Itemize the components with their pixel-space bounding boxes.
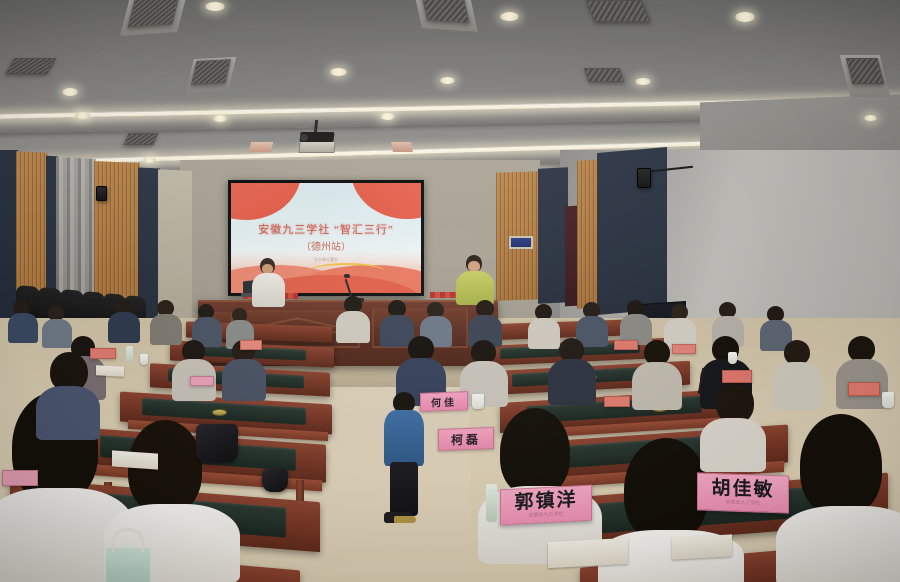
placard-front-right-name: 胡佳敏 (711, 479, 774, 500)
projector-mount-plate (298, 141, 335, 153)
paper-cup-3 (882, 392, 894, 408)
head (624, 438, 708, 542)
bench-badge-4-left (212, 409, 227, 416)
ceiling-grille-right (391, 142, 413, 152)
torso (336, 311, 370, 343)
water-bottle-1 (126, 346, 133, 363)
placard-far-4 (672, 344, 696, 354)
ac-vent-2 (191, 59, 231, 85)
downlight-11 (500, 12, 519, 21)
torso (222, 359, 266, 401)
tote-handle (112, 528, 144, 552)
notebook-3 (672, 534, 732, 559)
projection-subtitle: （德州站） (231, 238, 421, 253)
ac-vent-1 (127, 0, 180, 27)
downlight-1 (62, 88, 78, 96)
right-navy-panel-1 (538, 167, 568, 304)
ac-vent-6 (420, 0, 469, 23)
audience-right-mid-1 (548, 338, 596, 404)
audience-center-far-1 (336, 296, 370, 342)
paper-cup-1 (472, 394, 484, 409)
projection-title: 安徽九三学社 “智汇三行” (231, 221, 421, 237)
left-wall-front-panel (158, 169, 192, 320)
legs (390, 462, 418, 516)
torso (108, 312, 140, 343)
notebook-4 (96, 365, 124, 376)
torso (36, 386, 100, 440)
placard-mid-2: 柯磊 (438, 427, 494, 451)
placard-far-5 (722, 370, 752, 383)
screen-decor-blob-right (351, 183, 421, 219)
downlight-14 (864, 115, 877, 121)
placard-front-right: 胡佳敏 安徽省九三学社 (697, 472, 789, 513)
tote-bag (106, 548, 150, 582)
torso (700, 418, 766, 472)
right-navy-panel-2 (597, 147, 667, 315)
downlight-5 (75, 112, 90, 119)
presenter-left-torso (252, 273, 285, 307)
ac-vent-7 (586, 0, 651, 22)
audience-front-right-3 (700, 382, 766, 470)
downlight-7 (213, 115, 227, 122)
water-bottle-2 (486, 484, 497, 522)
paper-cup-4 (140, 354, 148, 365)
torso (632, 362, 682, 410)
ceiling-grille-left (249, 142, 273, 152)
audience-left-far-4 (150, 300, 182, 344)
audience-left-mid-2 (172, 340, 216, 400)
downlight-3 (330, 68, 347, 76)
downlight-6 (143, 157, 156, 163)
ac-vent-8 (846, 58, 884, 84)
handbag-on-bench (196, 424, 238, 462)
placard-far-2 (240, 340, 262, 350)
torso (772, 362, 822, 410)
placard-far-7 (2, 470, 38, 486)
placard-far-6 (848, 382, 880, 396)
ac-vent-4 (123, 133, 158, 145)
audience-right-mid-4 (772, 340, 822, 408)
left-wall-speaker (96, 186, 107, 201)
wall-plaque-sign (509, 236, 533, 249)
head (800, 414, 882, 516)
downlight-12 (735, 12, 755, 22)
conference-hall-photo: 安徽九三学社 “智汇三行” （德州站） 主办单位署名 (0, 0, 900, 582)
audience-front-left-3 (36, 352, 100, 438)
projector-lens (300, 134, 308, 141)
presenter-standing-right (456, 255, 494, 305)
audience-left-far-1 (8, 300, 38, 342)
placard-front-left: 郭镇洋 安徽省九三学社 (500, 485, 592, 526)
placard-front-left-name: 郭镇洋 (514, 490, 577, 512)
microphone-head (344, 274, 350, 278)
ac-vent-9 (584, 68, 625, 82)
head (500, 408, 570, 496)
notebook-1 (112, 450, 158, 469)
placard-mid-1: 何佳 (420, 391, 468, 412)
standing-attendee-aisle (382, 392, 426, 532)
shoe-sole (394, 516, 416, 523)
torso (8, 313, 38, 343)
placard-front-left-sub: 安徽省九三学社 (528, 512, 563, 519)
right-wall-speaker (637, 168, 651, 188)
downlight-10 (440, 77, 455, 84)
placard-mid-1-name: 何佳 (431, 394, 457, 410)
downlight-4 (380, 113, 395, 120)
screen-decor-blob-left (231, 183, 301, 220)
audience-front-right-2 (786, 414, 900, 582)
placard-far-9 (190, 376, 214, 386)
placard-front-right-sub: 安徽省九三学社 (725, 500, 760, 506)
audience-front-center-1 (484, 408, 594, 558)
torso (776, 506, 900, 582)
audience-left-far-3 (108, 298, 140, 342)
placard-far-8 (604, 396, 630, 407)
placard-far-1 (90, 348, 116, 359)
paper-cup-2 (728, 352, 737, 364)
presenter-seated-left (252, 258, 286, 306)
placard-far-3 (614, 340, 638, 350)
right-wood-slat-panel-2 (577, 159, 599, 309)
downlight-13 (635, 78, 651, 85)
notebook-2 (548, 538, 628, 568)
placard-mid-2-name: 柯磊 (451, 430, 481, 448)
backpack-on-floor (262, 468, 288, 492)
downlight-2 (205, 2, 225, 11)
torso (548, 359, 596, 405)
audience-right-far-3 (620, 300, 652, 344)
torso (384, 410, 424, 466)
